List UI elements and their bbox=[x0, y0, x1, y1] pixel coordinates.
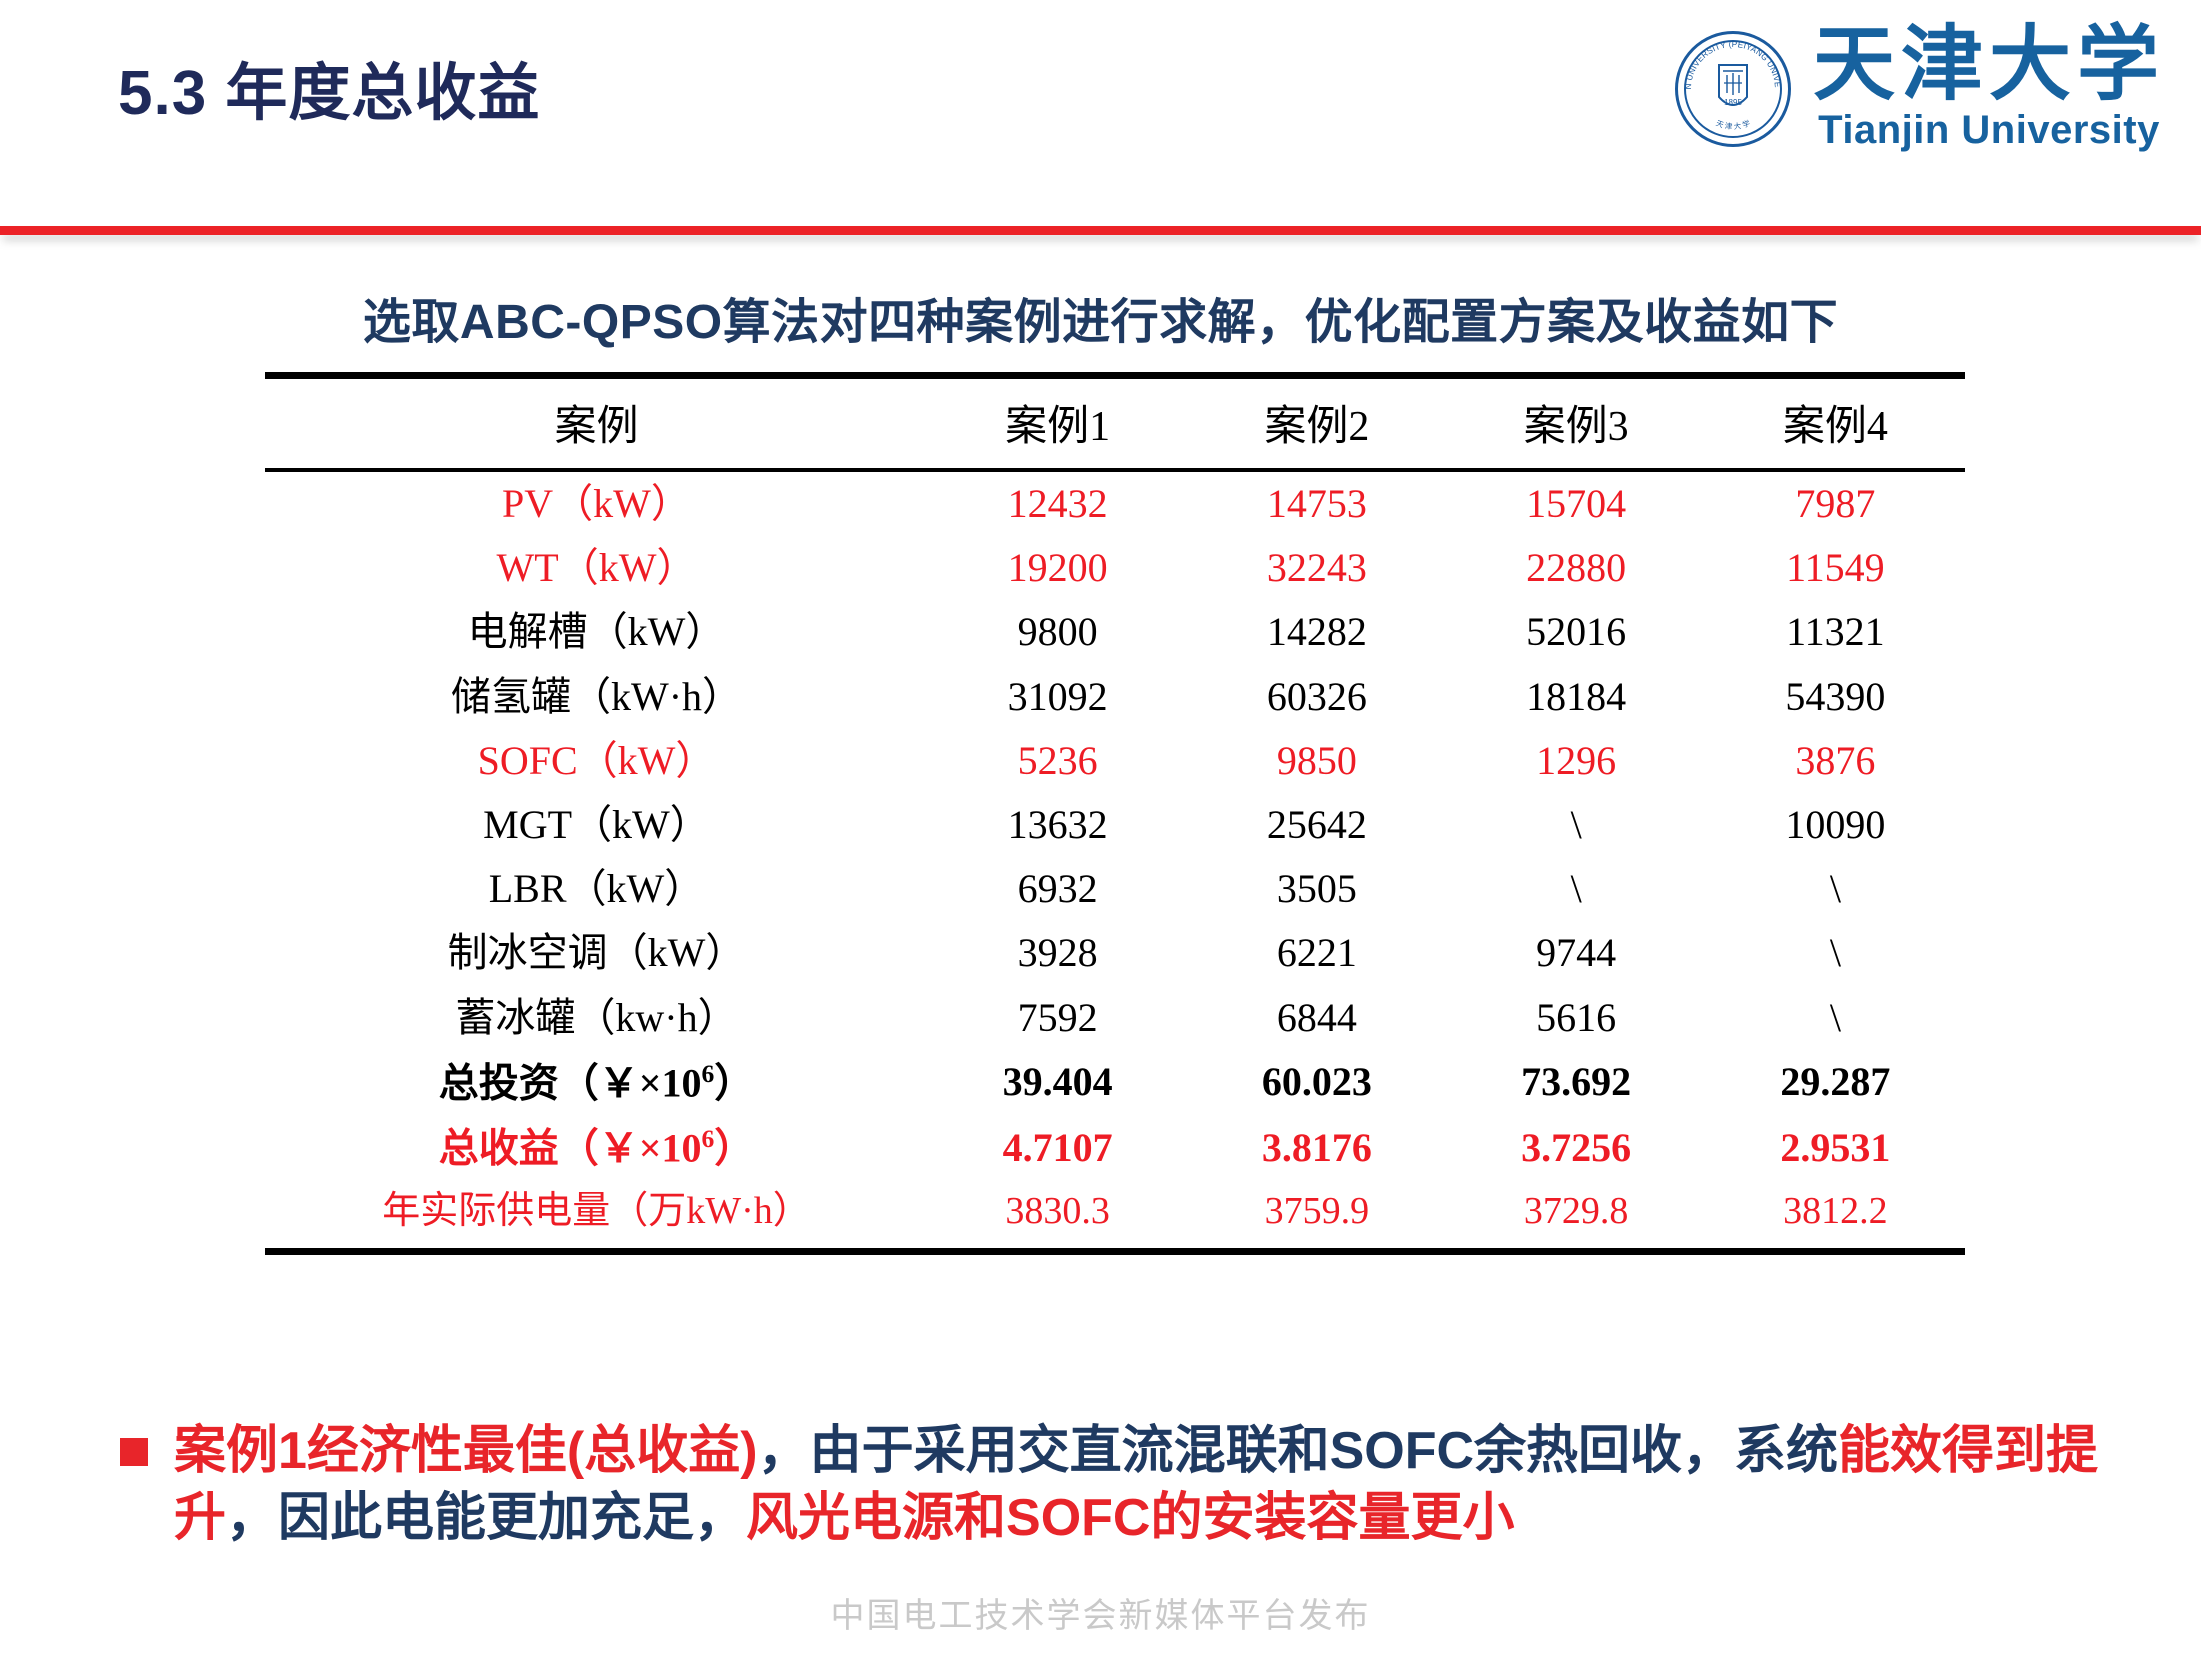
university-seal-icon: TIANJIN UNIVERSITY (PEIYANG UNIVERSITY) … bbox=[1675, 31, 1791, 147]
cell-case2: 3.8176 bbox=[1187, 1115, 1446, 1181]
university-name-cn: 天津大学 bbox=[1813, 26, 2165, 104]
column-header-case: 案例 bbox=[265, 376, 928, 471]
row-label: PV（kW） bbox=[265, 470, 928, 536]
university-wordmark: 天津大学 Tianjin University bbox=[1813, 26, 2165, 153]
cell-case2: 9850 bbox=[1187, 729, 1446, 793]
cell-case1: 7592 bbox=[928, 986, 1187, 1050]
column-header-case4: 案例4 bbox=[1706, 376, 1965, 471]
table-row: 制冰空调（kW）392862219744\ bbox=[265, 921, 1965, 985]
cell-case4: \ bbox=[1706, 921, 1965, 985]
footer-watermark: 中国电工技术学会新媒体平台发布 bbox=[0, 1588, 2201, 1637]
header-divider bbox=[0, 226, 2201, 235]
cell-case1: 3928 bbox=[928, 921, 1187, 985]
cell-case1: 5236 bbox=[928, 729, 1187, 793]
table-row: 总收益（￥×106）4.71073.81763.72562.9531 bbox=[265, 1115, 1965, 1181]
cell-case1: 4.7107 bbox=[928, 1115, 1187, 1181]
conclusion-text: 案例1经济性最佳(总收益)，由于采用交直流混联和SOFC余热回收，系统能效得到提… bbox=[174, 1418, 2100, 1551]
column-header-case3: 案例3 bbox=[1447, 376, 1706, 471]
row-label: 总投资（￥×106） bbox=[265, 1050, 928, 1116]
svg-text:TIANJIN UNIVERSITY (PEIYANG UN: TIANJIN UNIVERSITY (PEIYANG UNIVERSITY) bbox=[1675, 31, 1782, 90]
table-row: 总投资（￥×106）39.40460.02373.69229.287 bbox=[265, 1050, 1965, 1116]
column-header-case2: 案例2 bbox=[1187, 376, 1446, 471]
cell-case2: 60326 bbox=[1187, 665, 1446, 729]
cell-case4: 11321 bbox=[1706, 600, 1965, 664]
cell-case3: 3.7256 bbox=[1447, 1115, 1706, 1181]
cell-case3: 15704 bbox=[1447, 470, 1706, 536]
cell-case4: 3812.2 bbox=[1706, 1181, 1965, 1252]
cell-case4: 29.287 bbox=[1706, 1050, 1965, 1116]
conclusion-segment: ，因此电能更加充足， bbox=[226, 1489, 746, 1547]
cell-case1: 3830.3 bbox=[928, 1181, 1187, 1252]
table-row: LBR（kW）69323505\\ bbox=[265, 857, 1965, 921]
cell-case3: 52016 bbox=[1447, 600, 1706, 664]
cell-case2: 3759.9 bbox=[1187, 1181, 1446, 1252]
cell-case1: 39.404 bbox=[928, 1050, 1187, 1116]
row-label: SOFC（kW） bbox=[265, 729, 928, 793]
cell-case2: 6844 bbox=[1187, 986, 1446, 1050]
cell-case1: 31092 bbox=[928, 665, 1187, 729]
table-row: 电解槽（kW）9800142825201611321 bbox=[265, 600, 1965, 664]
cell-case3: 18184 bbox=[1447, 665, 1706, 729]
cell-case3: 1296 bbox=[1447, 729, 1706, 793]
cell-case4: 7987 bbox=[1706, 470, 1965, 536]
table-row: 蓄冰罐（kw·h）759268445616\ bbox=[265, 986, 1965, 1050]
cell-case2: 60.023 bbox=[1187, 1050, 1446, 1116]
table-row: 储氢罐（kW·h）31092603261818454390 bbox=[265, 665, 1965, 729]
row-label: LBR（kW） bbox=[265, 857, 928, 921]
cell-case2: 14282 bbox=[1187, 600, 1446, 664]
cell-case2: 6221 bbox=[1187, 921, 1446, 985]
table-row: PV（kW）1243214753157047987 bbox=[265, 470, 1965, 536]
conclusion-segment: 案例1经济性最佳(总收益) bbox=[174, 1422, 758, 1480]
cell-case4: 10090 bbox=[1706, 793, 1965, 857]
table-row: MGT（kW）1363225642\10090 bbox=[265, 793, 1965, 857]
cell-case1: 19200 bbox=[928, 536, 1187, 600]
slide-header: 5.3 年度总收益 TIANJIN UNIVERSITY (PEIYANG UN… bbox=[0, 0, 2201, 232]
row-label: 电解槽（kW） bbox=[265, 600, 928, 664]
cell-case3: 22880 bbox=[1447, 536, 1706, 600]
row-label: MGT（kW） bbox=[265, 793, 928, 857]
cell-case2: 14753 bbox=[1187, 470, 1446, 536]
cell-case2: 25642 bbox=[1187, 793, 1446, 857]
conclusion-bullet: 案例1经济性最佳(总收益)，由于采用交直流混联和SOFC余热回收，系统能效得到提… bbox=[120, 1418, 2100, 1551]
section-subtitle: 选取ABC-QPSO算法对四种案例进行求解，优化配置方案及收益如下 bbox=[0, 282, 2201, 352]
cell-case4: 3876 bbox=[1706, 729, 1965, 793]
conclusion-segment: 风光电源和SOFC的安装容量更小 bbox=[746, 1489, 1514, 1547]
cell-case4: 2.9531 bbox=[1706, 1115, 1965, 1181]
cell-case3: 9744 bbox=[1447, 921, 1706, 985]
cell-case3: 3729.8 bbox=[1447, 1181, 1706, 1252]
university-name-en: Tianjin University bbox=[1818, 108, 2160, 153]
cell-case4: \ bbox=[1706, 986, 1965, 1050]
university-logo: TIANJIN UNIVERSITY (PEIYANG UNIVERSITY) … bbox=[1675, 26, 2165, 153]
row-label: 总收益（￥×106） bbox=[265, 1115, 928, 1181]
svg-text:1895: 1895 bbox=[1724, 98, 1742, 107]
table-row: 年实际供电量（万kW·h）3830.33759.93729.83812.2 bbox=[265, 1181, 1965, 1252]
table-body: PV（kW）1243214753157047987WT（kW）192003224… bbox=[265, 470, 1965, 1251]
cell-case2: 32243 bbox=[1187, 536, 1446, 600]
row-label: 制冰空调（kW） bbox=[265, 921, 928, 985]
row-label: 年实际供电量（万kW·h） bbox=[265, 1181, 928, 1252]
cell-case1: 12432 bbox=[928, 470, 1187, 536]
table-row: SOFC（kW）5236985012963876 bbox=[265, 729, 1965, 793]
column-header-case1: 案例1 bbox=[928, 376, 1187, 471]
svg-text:天 津 大 学: 天 津 大 学 bbox=[1715, 118, 1752, 132]
cell-case4: 54390 bbox=[1706, 665, 1965, 729]
cell-case3: 73.692 bbox=[1447, 1050, 1706, 1116]
results-table-container: 案例 案例1 案例2 案例3 案例4 PV（kW）124321475315704… bbox=[265, 372, 1965, 1255]
row-label: WT（kW） bbox=[265, 536, 928, 600]
cell-case1: 9800 bbox=[928, 600, 1187, 664]
conclusion-segment: ，由于采用交直流混联和SOFC余热回收，系统 bbox=[758, 1422, 1838, 1480]
cell-case4: \ bbox=[1706, 857, 1965, 921]
cell-case4: 11549 bbox=[1706, 536, 1965, 600]
table-row: WT（kW）19200322432288011549 bbox=[265, 536, 1965, 600]
cell-case2: 3505 bbox=[1187, 857, 1446, 921]
slide-canvas: 5.3 年度总收益 TIANJIN UNIVERSITY (PEIYANG UN… bbox=[0, 0, 2201, 1658]
row-label: 储氢罐（kW·h） bbox=[265, 665, 928, 729]
results-table: 案例 案例1 案例2 案例3 案例4 PV（kW）124321475315704… bbox=[265, 372, 1965, 1255]
cell-case3: \ bbox=[1447, 857, 1706, 921]
row-label: 蓄冰罐（kw·h） bbox=[265, 986, 928, 1050]
table-header-row: 案例 案例1 案例2 案例3 案例4 bbox=[265, 376, 1965, 471]
cell-case1: 13632 bbox=[928, 793, 1187, 857]
cell-case3: \ bbox=[1447, 793, 1706, 857]
page-title: 5.3 年度总收益 bbox=[118, 42, 540, 132]
square-bullet-icon bbox=[120, 1438, 148, 1466]
cell-case3: 5616 bbox=[1447, 986, 1706, 1050]
cell-case1: 6932 bbox=[928, 857, 1187, 921]
